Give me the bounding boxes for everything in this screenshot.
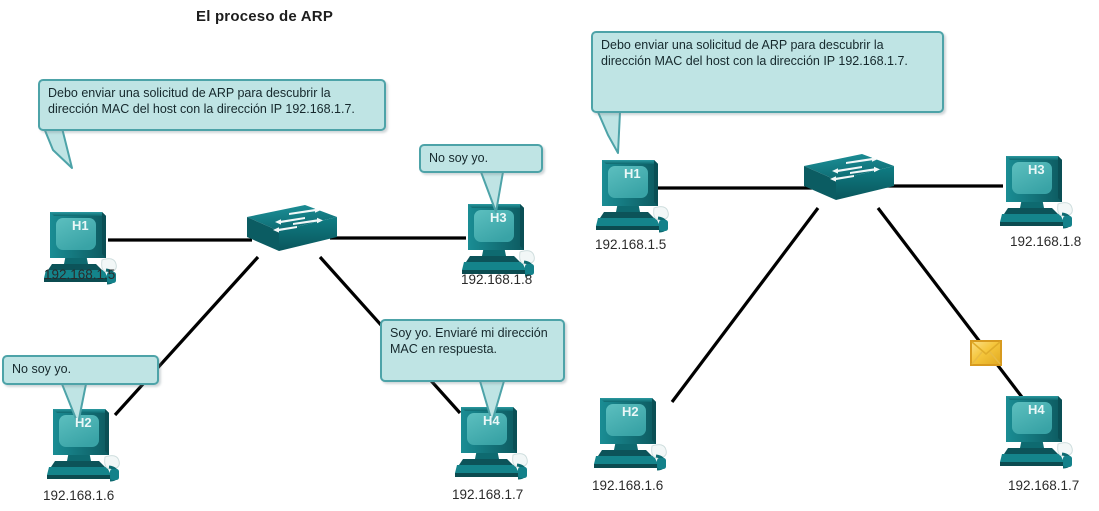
left-host-h2 (47, 409, 119, 480)
right-host-h2 (594, 398, 666, 469)
link-switch-h2 (115, 257, 258, 415)
right-host-h3-ip: 192.168.1.8 (1010, 234, 1081, 249)
left-host-h3-ip: 192.168.1.8 (461, 272, 532, 287)
left-switch (247, 205, 337, 251)
left-host-h4-ip: 192.168.1.7 (452, 487, 523, 502)
link-switch-h4 (878, 208, 1028, 405)
bubble-left-h2-deny: No soy yo. (2, 355, 159, 385)
right-switch (804, 154, 894, 200)
bubble-right-h1-request: Debo enviar una solicitud de ARP para de… (591, 31, 944, 113)
left-host-h3 (462, 204, 534, 275)
envelope-icon (971, 341, 1001, 365)
bubble-left-h1-request-text: Debo enviar una solicitud de ARP para de… (48, 86, 355, 116)
bubble-left-h4-reply: Soy yo. Enviaré mi dirección MAC en resp… (380, 319, 565, 382)
right-host-h1-ip: 192.168.1.5 (595, 237, 666, 252)
bubble-tail-right-h1 (598, 112, 620, 153)
bubble-tail-left-h1 (44, 128, 72, 168)
right-host-h3 (1000, 156, 1072, 227)
bubble-left-h3-deny: No soy yo. (419, 144, 543, 173)
right-host-h4-ip: 192.168.1.7 (1008, 478, 1079, 493)
right-host-h2-ip: 192.168.1.6 (592, 478, 663, 493)
bubble-right-h1-request-text: Debo enviar una solicitud de ARP para de… (601, 38, 908, 68)
right-host-h4 (1000, 396, 1072, 467)
bubble-left-h2-deny-text: No soy yo. (12, 362, 71, 376)
left-host-h1-ip: 192.168.1.5 (44, 267, 115, 282)
link-switch-h2 (672, 208, 818, 402)
right-links (658, 186, 1028, 405)
bubble-left-h4-reply-text: Soy yo. Enviaré mi dirección MAC en resp… (390, 326, 548, 356)
diagram-canvas: El proceso de ARP (0, 0, 1099, 511)
bubble-left-h3-deny-text: No soy yo. (429, 151, 488, 165)
bubble-left-h1-request: Debo enviar una solicitud de ARP para de… (38, 79, 386, 131)
right-host-h1 (596, 160, 668, 231)
left-host-h2-ip: 192.168.1.6 (43, 488, 114, 503)
